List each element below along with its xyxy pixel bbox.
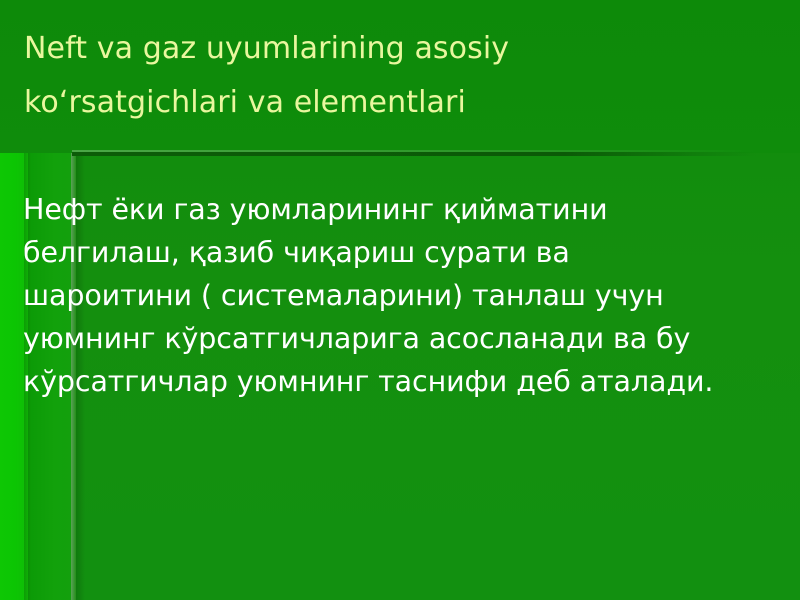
- slide-title: Neft va gaz uyumlarining asosiy koʻrsatg…: [24, 22, 774, 130]
- slide-body-line: кўрсатгичлар уюмнинг таснифи деб аталади…: [23, 360, 793, 403]
- slide-title-line-2: koʻrsatgichlari va elementlari: [24, 85, 466, 120]
- slide-body-line: уюмнинг кўрсатгичларига асосланади ва бу: [23, 317, 793, 360]
- slide-body-line: Нефт ёки газ уюмларининг қийматини: [23, 188, 793, 231]
- slide-title-line-1: Neft va gaz uyumlarining asosiy: [24, 31, 509, 66]
- title-divider: [72, 152, 756, 156]
- slide-body-line: шароитини ( системаларини) танлаш учун: [23, 274, 793, 317]
- slide-body: Нефт ёки газ уюмларининг қийматини белги…: [23, 188, 793, 403]
- presentation-slide: Neft va gaz uyumlarining asosiy koʻrsatg…: [0, 0, 800, 600]
- slide-body-line: белгилаш, қазиб чиқариш сурати ва: [23, 231, 793, 274]
